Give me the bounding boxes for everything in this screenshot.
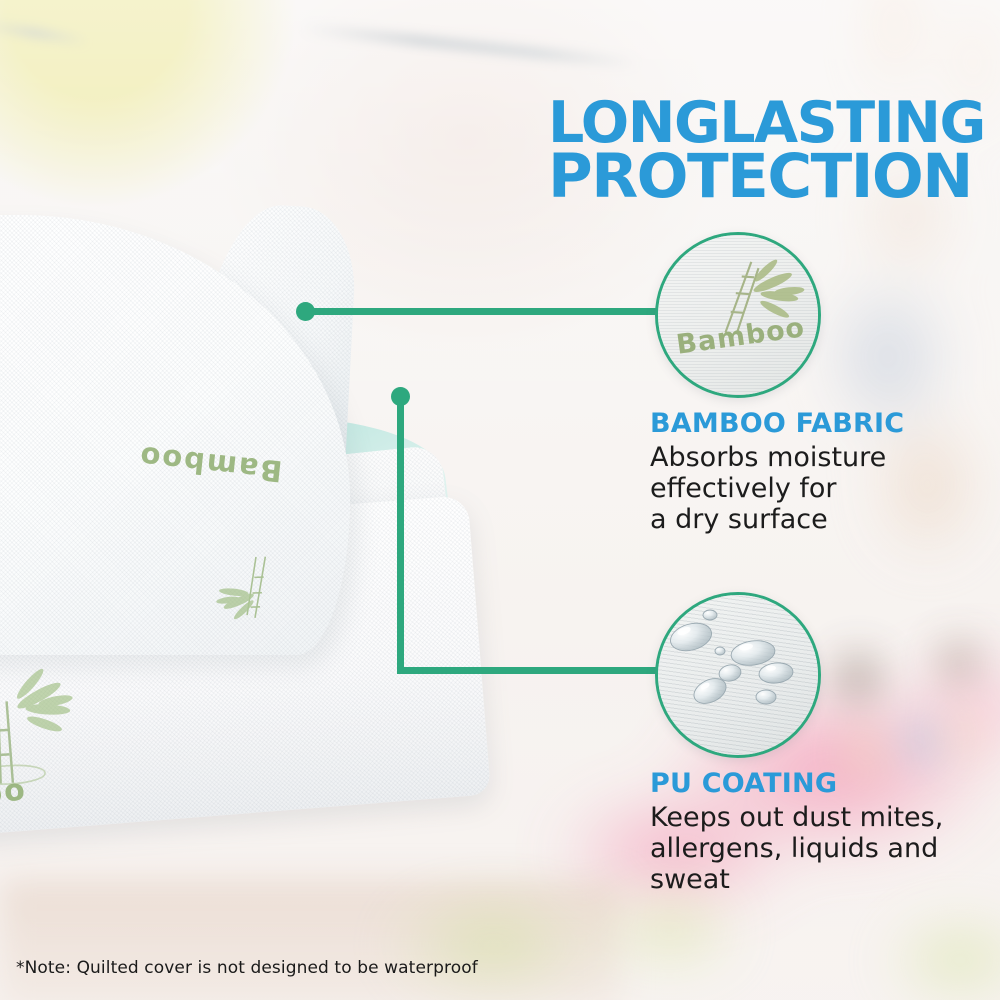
feature-body-bamboo-line-3: a dry surface [650, 505, 980, 536]
title-line-2: PROTECTION [548, 149, 988, 205]
feature-bamboo-fabric: BAMBOO FABRIC Absorbs moisture effective… [650, 408, 980, 535]
feature-title-bamboo: BAMBOO FABRIC [650, 408, 980, 439]
connector-dot-bamboo [296, 302, 315, 321]
connector-line-pu-vertical [397, 396, 404, 674]
footnote-disclaimer: *Note: Quilted cover is not designed to … [16, 958, 478, 978]
feature-body-bamboo-line-1: Absorbs moisture [650, 443, 980, 474]
water-droplets-icon [658, 595, 818, 755]
product-photo-mattress-protector: Bamboo Bamboo [0, 215, 560, 895]
connector-dot-pu [391, 387, 410, 406]
connector-line-pu-horizontal [397, 667, 659, 674]
connector-line-bamboo [305, 308, 657, 315]
bamboo-plant-icon [203, 544, 292, 637]
feature-body-pu-line-1: Keeps out dust mites, [650, 803, 980, 834]
page-title: LONGLASTING PROTECTION [548, 97, 988, 206]
feature-body-pu-line-2: allergens, liquids and [650, 834, 980, 865]
product-infographic: Bamboo Bamboo LONGL [0, 0, 1000, 1000]
callout-circle-bamboo: Bamboo [655, 232, 821, 398]
feature-body-pu-line-3: sweat [650, 865, 980, 896]
feature-body-bamboo-line-2: effectively for [650, 474, 980, 505]
feature-title-pu: PU COATING [650, 768, 980, 799]
callout-circle-pu [655, 592, 821, 758]
feature-pu-coating: PU COATING Keeps out dust mites, allerge… [650, 768, 980, 895]
